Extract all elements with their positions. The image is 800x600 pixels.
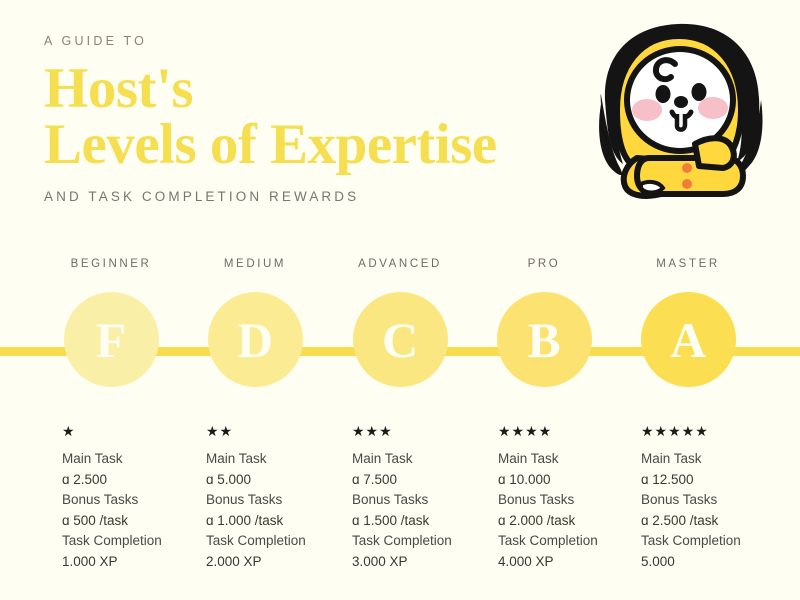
main-task-label: Main Task bbox=[498, 449, 648, 470]
completion-label: Task Completion bbox=[352, 531, 502, 552]
completion-label: Task Completion bbox=[62, 531, 212, 552]
eyebrow-text: A GUIDE TO bbox=[44, 34, 604, 49]
stage-grade-c: C bbox=[382, 315, 418, 365]
completion-value: 4.000 XP bbox=[498, 552, 648, 573]
stage-circle-pro[interactable]: B bbox=[497, 292, 592, 387]
star-rating-3: ★★★ bbox=[352, 424, 502, 442]
completion-value: 1.000 XP bbox=[62, 552, 212, 573]
bonus-task-label: Bonus Tasks bbox=[498, 490, 648, 511]
main-task-amount: ɑ 12.500 bbox=[641, 470, 791, 491]
completion-label: Task Completion bbox=[206, 531, 356, 552]
bonus-task-amount: ɑ 500 /task bbox=[62, 511, 212, 532]
reward-column-advanced: ★★★ Main Task ɑ 7.500 Bonus Tasks ɑ 1.50… bbox=[352, 424, 502, 573]
stage-circle-medium[interactable]: D bbox=[208, 292, 303, 387]
main-task-amount: ɑ 7.500 bbox=[352, 470, 502, 491]
reward-column-beginner: ★ Main Task ɑ 2.500 Bonus Tasks ɑ 500 /t… bbox=[62, 424, 212, 573]
reward-column-medium: ★★ Main Task ɑ 5.000 Bonus Tasks ɑ 1.000… bbox=[206, 424, 356, 573]
title-line-2: Levels of Expertise bbox=[44, 117, 604, 173]
stage-grade-b: B bbox=[527, 315, 560, 365]
stage-pro[interactable]: PRO B bbox=[464, 258, 624, 387]
stage-label-advanced: ADVANCED bbox=[320, 258, 480, 270]
stage-grade-d: D bbox=[237, 315, 273, 365]
completion-value: 3.000 XP bbox=[352, 552, 502, 573]
completion-value: 2.000 XP bbox=[206, 552, 356, 573]
bonus-task-label: Bonus Tasks bbox=[62, 490, 212, 511]
main-task-label: Main Task bbox=[206, 449, 356, 470]
bonus-task-label: Bonus Tasks bbox=[641, 490, 791, 511]
reward-column-master: ★★★★★ Main Task ɑ 12.500 Bonus Tasks ɑ 2… bbox=[641, 424, 791, 573]
stage-medium[interactable]: MEDIUM D bbox=[175, 258, 335, 387]
infographic-canvas: A GUIDE TO Host's Levels of Expertise AN… bbox=[0, 0, 800, 600]
bonus-task-amount: ɑ 1.000 /task bbox=[206, 511, 356, 532]
stage-master[interactable]: MASTER A bbox=[608, 258, 768, 387]
bonus-task-amount: ɑ 2.000 /task bbox=[498, 511, 648, 532]
bonus-task-label: Bonus Tasks bbox=[206, 490, 356, 511]
star-rating-4: ★★★★ bbox=[498, 424, 648, 442]
star-rating-5: ★★★★★ bbox=[641, 424, 791, 442]
header-block: A GUIDE TO Host's Levels of Expertise AN… bbox=[44, 34, 604, 204]
title-line-1: Host's bbox=[44, 57, 193, 120]
completion-label: Task Completion bbox=[641, 531, 791, 552]
stage-grade-f: F bbox=[96, 315, 127, 365]
star-rating-1: ★ bbox=[62, 424, 212, 442]
stage-circle-master[interactable]: A bbox=[641, 292, 736, 387]
stage-circle-advanced[interactable]: C bbox=[353, 292, 448, 387]
stage-label-beginner: BEGINNER bbox=[31, 258, 191, 270]
main-task-label: Main Task bbox=[62, 449, 212, 470]
main-task-amount: ɑ 2.500 bbox=[62, 470, 212, 491]
stage-beginner[interactable]: BEGINNER F bbox=[31, 258, 191, 387]
reward-column-pro: ★★★★ Main Task ɑ 10.000 Bonus Tasks ɑ 2.… bbox=[498, 424, 648, 573]
stage-advanced[interactable]: ADVANCED C bbox=[320, 258, 480, 387]
stage-label-medium: MEDIUM bbox=[175, 258, 335, 270]
main-task-amount: ɑ 10.000 bbox=[498, 470, 648, 491]
main-task-amount: ɑ 5.000 bbox=[206, 470, 356, 491]
stage-grade-a: A bbox=[670, 315, 706, 365]
main-task-label: Main Task bbox=[352, 449, 502, 470]
subtitle-text: AND TASK COMPLETION REWARDS bbox=[44, 189, 604, 204]
bonus-task-label: Bonus Tasks bbox=[352, 490, 502, 511]
star-rating-2: ★★ bbox=[206, 424, 356, 442]
stage-label-master: MASTER bbox=[608, 258, 768, 270]
bonus-task-amount: ɑ 1.500 /task bbox=[352, 511, 502, 532]
chimmy-mascot-icon bbox=[575, 8, 790, 208]
stage-label-pro: PRO bbox=[464, 258, 624, 270]
main-task-label: Main Task bbox=[641, 449, 791, 470]
completion-value: 5.000 bbox=[641, 552, 791, 573]
stage-circle-beginner[interactable]: F bbox=[64, 292, 159, 387]
bonus-task-amount: ɑ 2.500 /task bbox=[641, 511, 791, 532]
completion-label: Task Completion bbox=[498, 531, 648, 552]
page-title: Host's Levels of Expertise bbox=[44, 61, 604, 173]
